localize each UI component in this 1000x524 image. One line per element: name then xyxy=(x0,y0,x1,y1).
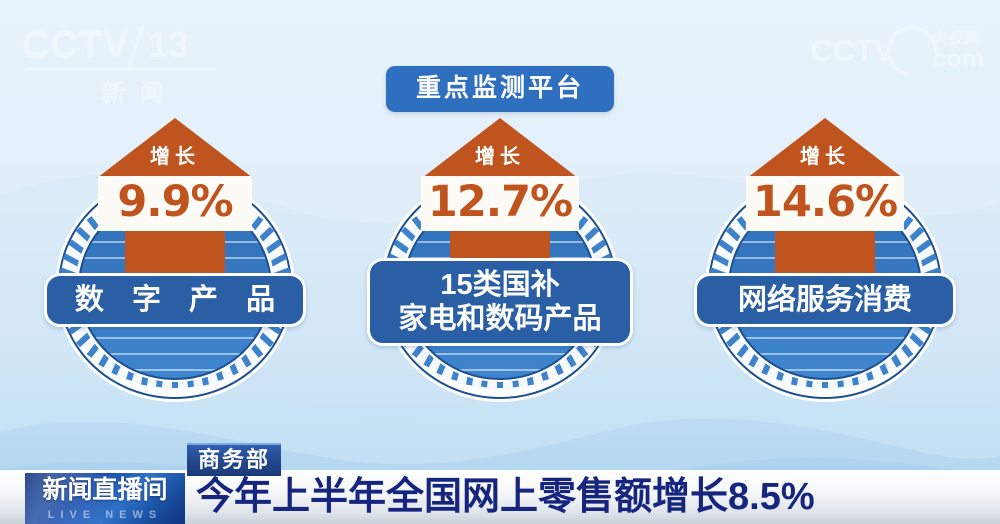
page-title: 重点监测平台 xyxy=(416,74,584,102)
category-label-line1: 网络服务消费 xyxy=(709,283,941,317)
channel-logo-number: 13 xyxy=(148,24,188,66)
cctv13-channel-logo: CCTV 13 新闻 xyxy=(22,24,227,96)
growth-label: 增长 xyxy=(422,146,578,168)
percent-value-box: 9.9% xyxy=(98,176,252,231)
department-name: 商务部 xyxy=(198,448,270,472)
header-title-pill: 重点监测平台 xyxy=(386,66,614,112)
department-tag: 商务部 xyxy=(187,443,281,476)
percent-value: 14.6% xyxy=(753,178,897,227)
logo-underline xyxy=(26,67,216,70)
category-label-line2: 家电和数码产品 xyxy=(382,302,618,336)
category-label: 数 字 产 品 xyxy=(44,273,306,327)
watermark-com-text: com xyxy=(933,47,984,72)
percent-value: 9.9% xyxy=(105,178,245,227)
program-subtitle: LIVE NEWS xyxy=(25,509,185,522)
metric-badge-row: 增长 9.9% 数 字 产 品 xyxy=(0,118,1000,408)
broadcast-screen: CCTV 13 新闻 CCTV 央视网 com 重点监测平台 xyxy=(0,0,1000,524)
metric-badge: 增长 9.9% 数 字 产 品 xyxy=(40,118,310,408)
program-name: 新闻直播间 xyxy=(25,476,185,504)
watermark-cn-text: 央视网 xyxy=(933,31,984,46)
metric-badge: 增长 12.7% 15类国补 家电和数码产品 xyxy=(365,118,635,408)
category-label-line1: 数 字 产 品 xyxy=(59,283,291,317)
category-label: 网络服务消费 xyxy=(694,273,956,327)
cctv-com-watermark: CCTV 央视网 com xyxy=(810,24,984,78)
category-label: 15类国补 家电和数码产品 xyxy=(367,258,633,346)
logo-slash-icon xyxy=(129,25,145,65)
watermark-ring-icon xyxy=(877,16,947,86)
channel-logo-name: CCTV xyxy=(22,24,129,66)
metric-badge: 增长 14.6% 网络服务消费 xyxy=(690,118,960,408)
percent-value: 12.7% xyxy=(428,178,572,227)
channel-logo-sub: 新闻 xyxy=(52,73,227,108)
percent-value-box: 12.7% xyxy=(421,176,579,231)
growth-label: 增长 xyxy=(747,146,903,168)
watermark-cctv-text: CCTV xyxy=(810,35,894,67)
percent-value-box: 14.6% xyxy=(746,176,904,231)
program-badge: 新闻直播间 LIVE NEWS xyxy=(25,473,185,524)
growth-label: 增长 xyxy=(97,146,253,168)
headline-text: 今年上半年全国网上零售额增长8.5% xyxy=(196,474,815,520)
category-label-line1: 15类国补 xyxy=(382,268,618,302)
